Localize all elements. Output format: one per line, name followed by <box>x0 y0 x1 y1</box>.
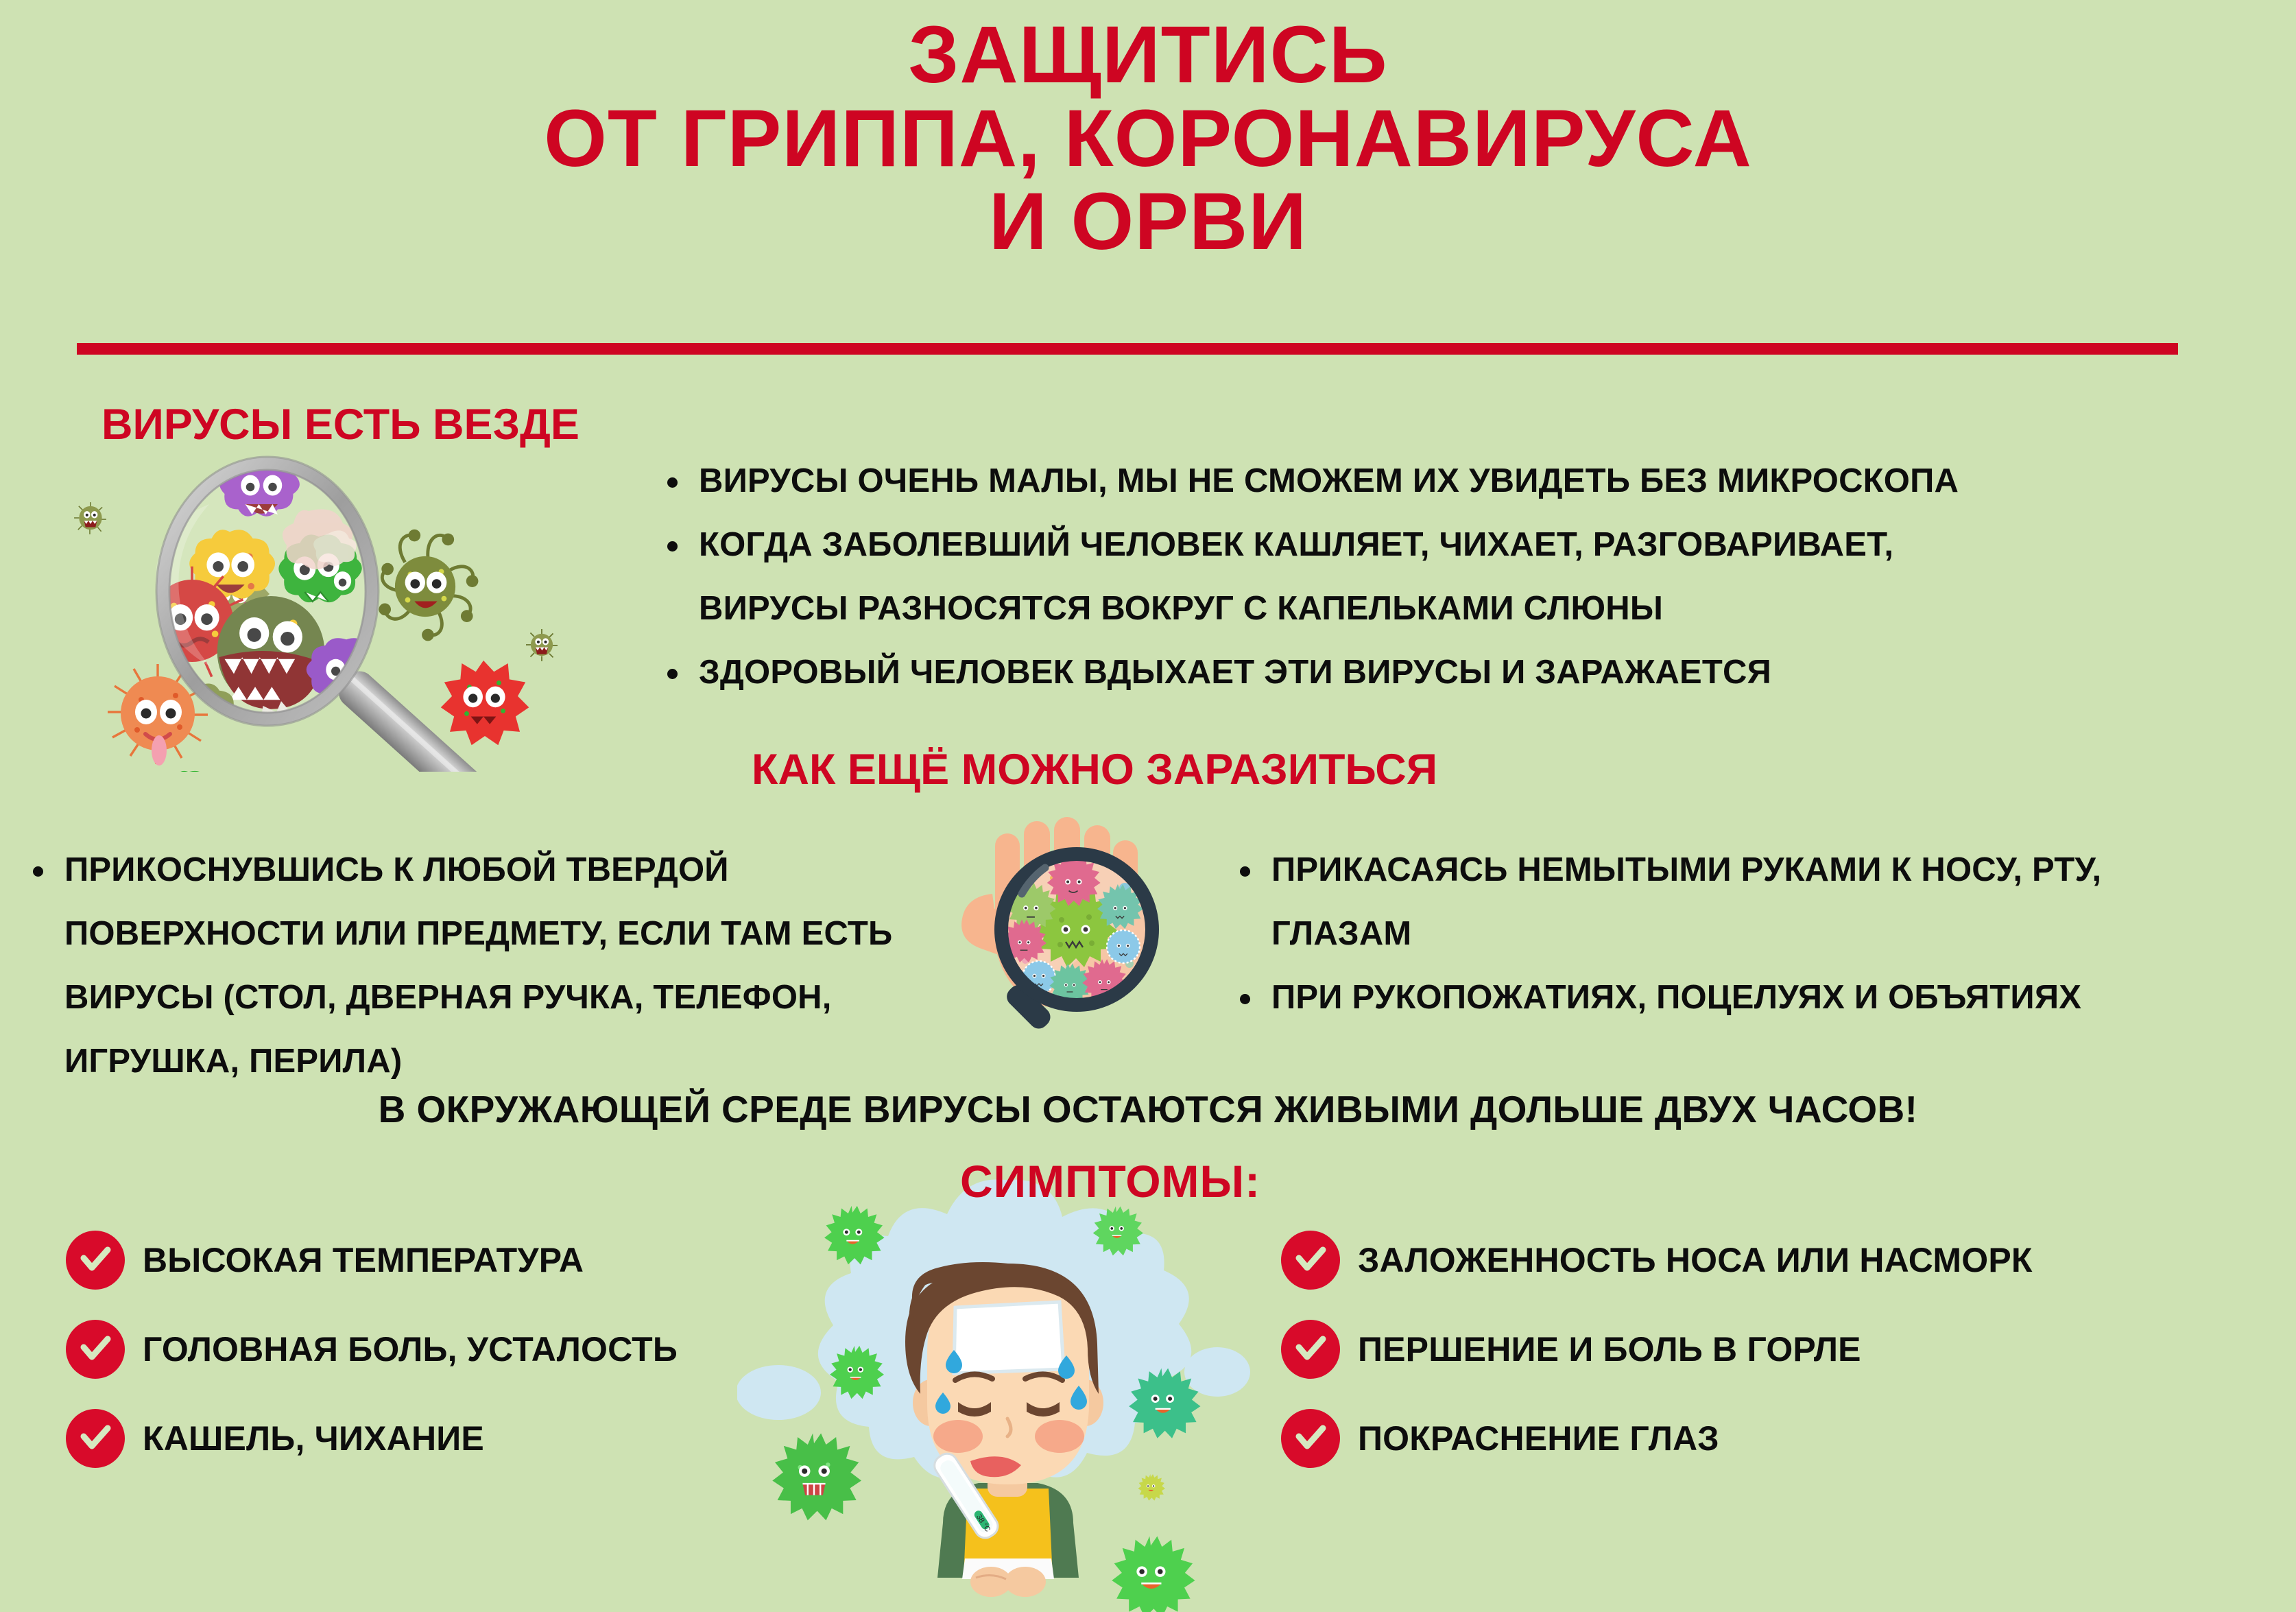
list-item: КОГДА ЗАБОЛЕВШИЙ ЧЕЛОВЕК КАШЛЯЕТ, ЧИХАЕТ… <box>655 513 1959 577</box>
symptoms-right-list: ЗАЛОЖЕННОСТЬ НОСА ИЛИ НАСМОРК ПЕРШЕНИЕ И… <box>1281 1216 2033 1483</box>
hand-with-germs-icon <box>950 813 1224 1074</box>
check-badge-icon <box>66 1231 125 1290</box>
symptoms-left-list: ВЫСОКАЯ ТЕМПЕРАТУРА ГОЛОВНАЯ БОЛЬ, УСТАЛ… <box>66 1216 678 1483</box>
bullet-text: ВИРУСЫ ОЧЕНЬ МАЛЫ, МЫ НЕ СМОЖЕМ ИХ УВИДЕ… <box>699 449 1959 513</box>
symptom-label: ЗАЛОЖЕННОСТЬ НОСА ИЛИ НАСМОРК <box>1358 1240 2033 1280</box>
symptom-label: ПОКРАСНЕНИЕ ГЛАЗ <box>1358 1419 1719 1458</box>
bullet-text: ПРИ РУКОПОЖАТИЯХ, ПОЦЕЛУЯХ И ОБЪЯТИЯХ <box>1271 966 2101 1030</box>
symptom-row: ГОЛОВНАЯ БОЛЬ, УСТАЛОСТЬ <box>66 1305 678 1394</box>
list-item-continuation: ПОВЕРХНОСТИ ИЛИ ПРЕДМЕТУ, ЕСЛИ ТАМ ЕСТЬ <box>21 902 892 966</box>
symptom-row: ПЕРШЕНИЕ И БОЛЬ В ГОРЛЕ <box>1281 1305 2033 1394</box>
germ-blue-right <box>1107 930 1140 963</box>
check-badge-icon <box>66 1409 125 1468</box>
list-item: ПРИКАСАЯСЬ НЕМЫТЫМИ РУКАМИ К НОСУ, РТУ, <box>1228 838 2101 902</box>
list-item: ПРИ РУКОПОЖАТИЯХ, ПОЦЕЛУЯХ И ОБЪЯТИЯХ <box>1228 966 2101 1030</box>
symptom-row: КАШЕЛЬ, ЧИХАНИЕ <box>66 1394 678 1483</box>
symptom-label: КАШЕЛЬ, ЧИХАНИЕ <box>143 1419 484 1458</box>
bullet-text: КОГДА ЗАБОЛЕВШИЙ ЧЕЛОВЕК КАШЛЯЕТ, ЧИХАЕТ… <box>699 513 1959 577</box>
bullet-text: ПРИКАСАЯСЬ НЕМЫТЫМИ РУКАМИ К НОСУ, РТУ, <box>1271 838 2101 902</box>
hand-magnifier-illustration <box>950 813 1224 1074</box>
magnifier-germs-illustration <box>62 449 631 772</box>
sick-child-icon: 38 °C <box>737 1166 1279 1612</box>
poster-root: ЗАЩИТИСЬ ОТ ГРИППА, КОРОНАВИРУСА И ОРВИ … <box>0 0 2296 1611</box>
check-badge-icon <box>1281 1409 1340 1468</box>
check-badge-icon <box>1281 1231 1340 1290</box>
check-badge-icon <box>1281 1320 1340 1379</box>
bullet-text: ПРИКОСНУВШИСЬ К ЛЮБОЙ ТВЕРДОЙ <box>64 838 892 902</box>
title-line-3: И ОРВИ <box>0 180 2296 264</box>
bullet-text: ВИРУСЫ (СТОЛ, ДВЕРНАЯ РУЧКА, ТЕЛЕФОН, <box>64 966 892 1030</box>
heading-viruses-everywhere: ВИРУСЫ ЕСТЬ ВЕЗДЕ <box>101 400 579 449</box>
bullet-text: ГЛАЗАМ <box>1271 902 2101 966</box>
symptom-label: ВЫСОКАЯ ТЕМПЕРАТУРА <box>143 1240 584 1280</box>
symptom-label: ГОЛОВНАЯ БОЛЬ, УСТАЛОСТЬ <box>143 1329 678 1369</box>
forehead-compress <box>954 1302 1064 1373</box>
list-item-continuation: ВИРУСЫ (СТОЛ, ДВЕРНАЯ РУЧКА, ТЕЛЕФОН, <box>21 966 892 1030</box>
symptom-label: ПЕРШЕНИЕ И БОЛЬ В ГОРЛЕ <box>1358 1329 1861 1369</box>
bullet-text: ПОВЕРХНОСТИ ИЛИ ПРЕДМЕТУ, ЕСЛИ ТАМ ЕСТЬ <box>64 902 892 966</box>
magnifier-germs-icon <box>62 449 631 772</box>
check-badge-icon <box>66 1320 125 1379</box>
bullet-text: ИГРУШКА, ПЕРИЛА) <box>64 1030 892 1093</box>
sick-child-illustration: 38 °C <box>737 1166 1279 1612</box>
heading-symptoms: СИМПТОМЫ: <box>960 1155 1260 1207</box>
environment-survival-note: В ОКРУЖАЮЩЕЙ СРЕДЕ ВИРУСЫ ОСТАЮТСЯ ЖИВЫМ… <box>0 1087 2296 1131</box>
symptom-row: ВЫСОКАЯ ТЕМПЕРАТУРА <box>66 1216 678 1305</box>
page-title: ЗАЩИТИСЬ ОТ ГРИППА, КОРОНАВИРУСА И ОРВИ <box>0 14 2296 264</box>
title-line-1: ЗАЩИТИСЬ <box>0 14 2296 97</box>
list-item: ВИРУСЫ ОЧЕНЬ МАЛЫ, МЫ НЕ СМОЖЕМ ИХ УВИДЕ… <box>655 449 1959 513</box>
title-divider-rule <box>77 343 2178 355</box>
list-item-continuation: ИГРУШКА, ПЕРИЛА) <box>21 1030 892 1093</box>
list-item-continuation: ГЛАЗАМ <box>1228 902 2101 966</box>
bullet-text: ЗДОРОВЫЙ ЧЕЛОВЕК ВДЫХАЕТ ЭТИ ВИРУСЫ И ЗА… <box>699 641 1959 704</box>
list-item: ПРИКОСНУВШИСЬ К ЛЮБОЙ ТВЕРДОЙ <box>21 838 892 902</box>
bullet-text: ВИРУСЫ РАЗНОСЯТСЯ ВОКРУГ С КАПЕЛЬКАМИ СЛ… <box>699 577 1959 641</box>
heading-how-else-infected: КАК ЕЩЁ МОЖНО ЗАРАЗИТЬСЯ <box>752 745 1437 794</box>
title-line-2: ОТ ГРИППА, КОРОНАВИРУСА <box>0 97 2296 181</box>
viruses-everywhere-bullet-list: ВИРУСЫ ОЧЕНЬ МАЛЫ, МЫ НЕ СМОЖЕМ ИХ УВИДЕ… <box>655 449 1959 704</box>
how-else-right-bullet-list: ПРИКАСАЯСЬ НЕМЫТЫМИ РУКАМИ К НОСУ, РТУ, … <box>1228 838 2101 1030</box>
how-else-left-bullet-list: ПРИКОСНУВШИСЬ К ЛЮБОЙ ТВЕРДОЙ ПОВЕРХНОСТ… <box>21 838 892 1093</box>
list-item: ЗДОРОВЫЙ ЧЕЛОВЕК ВДЫХАЕТ ЭТИ ВИРУСЫ И ЗА… <box>655 641 1959 704</box>
list-item-continuation: ВИРУСЫ РАЗНОСЯТСЯ ВОКРУГ С КАПЕЛЬКАМИ СЛ… <box>655 577 1959 641</box>
symptom-row: ЗАЛОЖЕННОСТЬ НОСА ИЛИ НАСМОРК <box>1281 1216 2033 1305</box>
symptom-row: ПОКРАСНЕНИЕ ГЛАЗ <box>1281 1394 2033 1483</box>
